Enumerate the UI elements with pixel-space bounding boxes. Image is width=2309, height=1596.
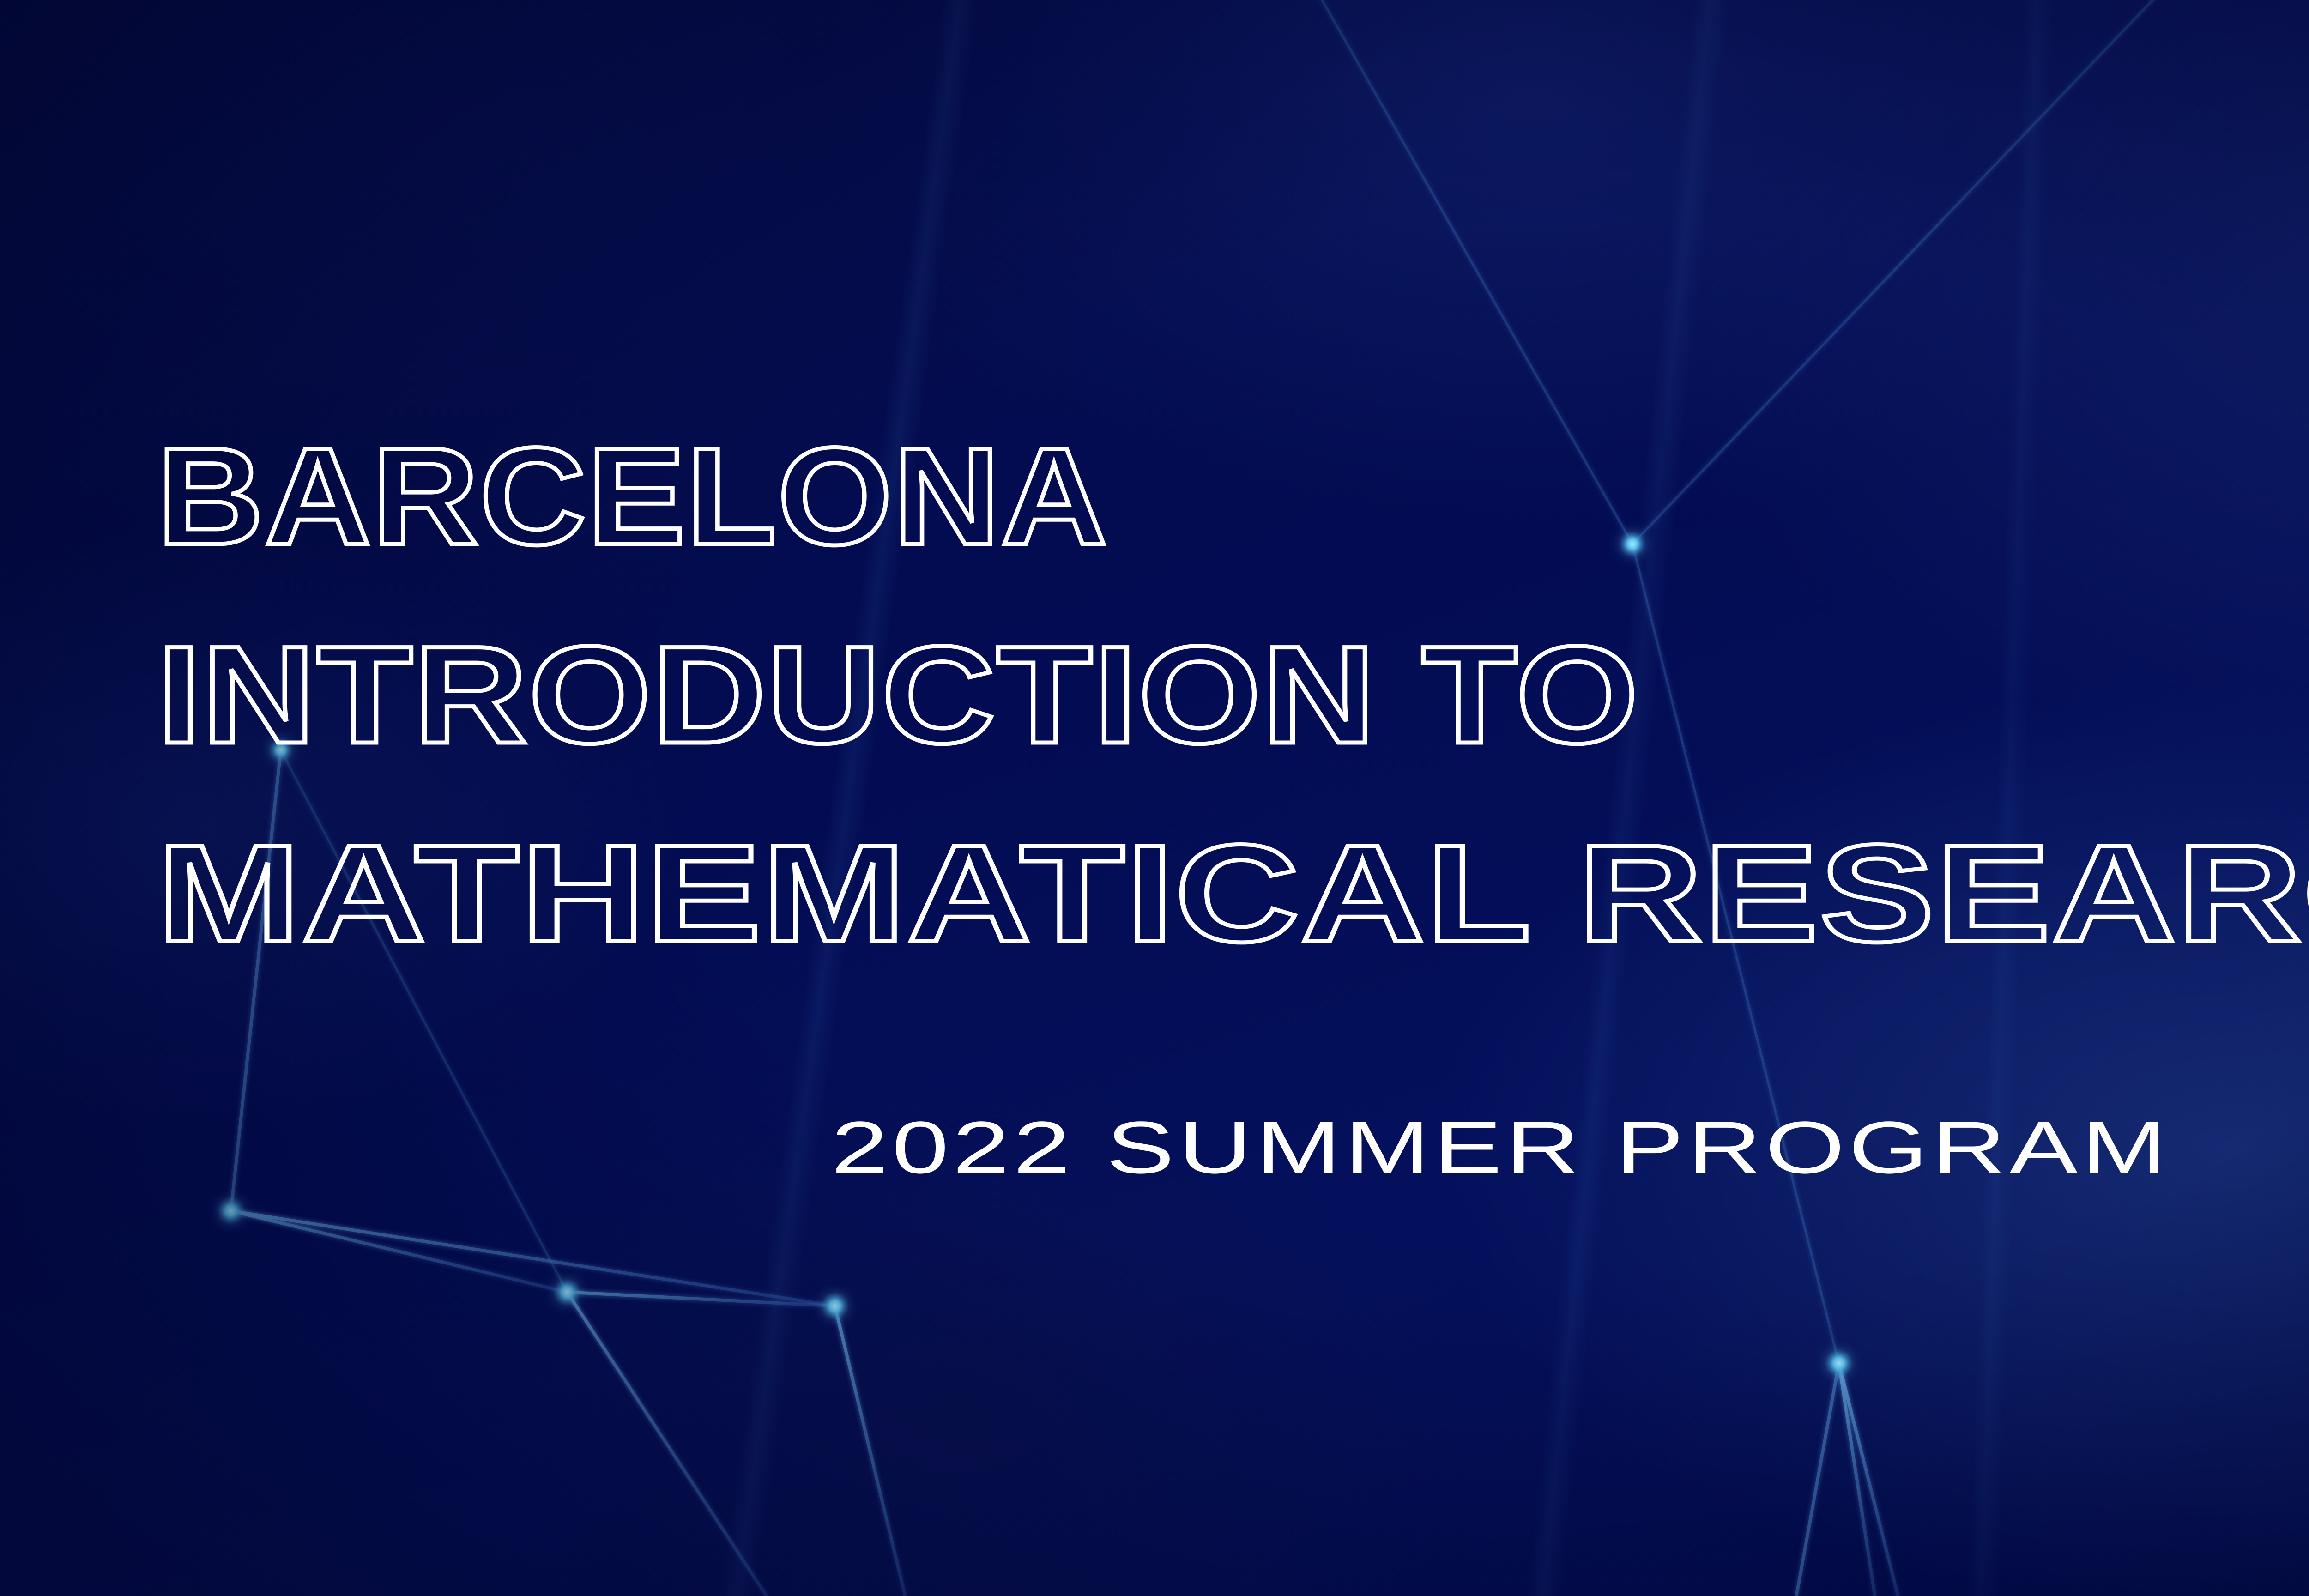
constellation-network-graphic [0, 0, 2309, 1596]
network-node [269, 738, 293, 762]
network-node [821, 1292, 849, 1320]
network-node [553, 1278, 581, 1306]
network-node [1620, 531, 1645, 557]
network-node [217, 1197, 245, 1225]
network-node [1825, 1349, 1853, 1377]
network-edges [231, 750, 2309, 1596]
poster-canvas: BARCELONA INTRODUCTION TO MATHEMATICAL R… [0, 0, 2309, 1596]
network-nodes [217, 531, 2309, 1495]
network-edges-faint [281, 0, 2309, 1480]
